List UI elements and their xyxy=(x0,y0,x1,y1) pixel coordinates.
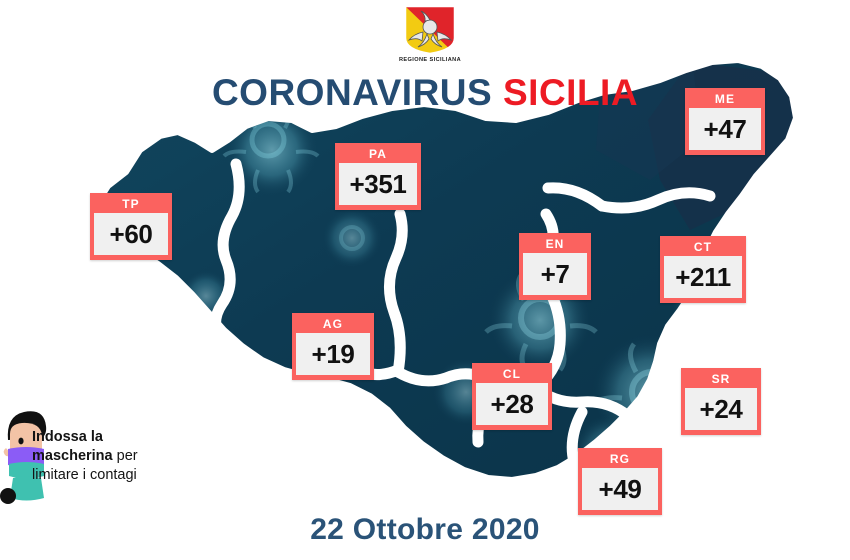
province-code-tp: TP xyxy=(94,196,168,213)
infographic-root: REGIONE SICILIANA CORONAVIRUS SICILIA TP… xyxy=(0,0,850,560)
logo-caption: REGIONE SICILIANA xyxy=(385,57,475,63)
province-value-me: +47 xyxy=(689,108,761,150)
mask-notice-line2-bold: mascherina xyxy=(32,448,113,464)
eye-shape xyxy=(18,438,23,445)
province-box-me[interactable]: ME +47 xyxy=(685,88,765,155)
province-box-en[interactable]: EN +7 xyxy=(519,233,591,300)
province-value-ag: +19 xyxy=(296,333,370,375)
province-value-pa: +351 xyxy=(339,163,417,205)
province-code-cl: CL xyxy=(476,366,548,383)
province-box-ct[interactable]: CT +211 xyxy=(660,236,746,303)
province-box-pa[interactable]: PA +351 xyxy=(335,143,421,210)
province-box-cl[interactable]: CL +28 xyxy=(472,363,552,430)
mask-notice-line1: Indossa la xyxy=(32,429,103,445)
province-value-ct: +211 xyxy=(664,256,742,298)
province-value-cl: +28 xyxy=(476,383,548,425)
province-code-rg: RG xyxy=(582,451,658,468)
province-code-pa: PA xyxy=(339,146,417,163)
province-box-rg[interactable]: RG +49 xyxy=(578,448,662,515)
date-label: 22 Ottobre 2020 xyxy=(0,513,850,547)
title-word-sicilia: SICILIA xyxy=(503,72,638,113)
province-code-ag: AG xyxy=(296,316,370,333)
province-code-me: ME xyxy=(689,91,761,108)
province-box-sr[interactable]: SR +24 xyxy=(681,368,761,435)
trinacria-emblem xyxy=(403,4,457,56)
mask-notice-line3: limitare i contagi xyxy=(32,467,137,483)
province-value-en: +7 xyxy=(523,253,587,295)
province-box-tp[interactable]: TP +60 xyxy=(90,193,172,260)
shoulder-shape xyxy=(0,488,16,504)
province-value-sr: +24 xyxy=(685,388,757,430)
province-code-ct: CT xyxy=(664,239,742,256)
mask-notice-text: Indossa la mascherina per limitare i con… xyxy=(32,428,207,485)
province-value-tp: +60 xyxy=(94,213,168,255)
province-code-sr: SR xyxy=(685,371,757,388)
province-code-en: EN xyxy=(523,236,587,253)
title-word-coronavirus: CORONAVIRUS xyxy=(212,72,492,113)
regione-siciliana-logo: REGIONE SICILIANA xyxy=(385,4,475,66)
province-value-rg: +49 xyxy=(582,468,658,510)
province-box-ag[interactable]: AG +19 xyxy=(292,313,374,380)
mask-notice-line2-rest: per xyxy=(113,448,138,464)
